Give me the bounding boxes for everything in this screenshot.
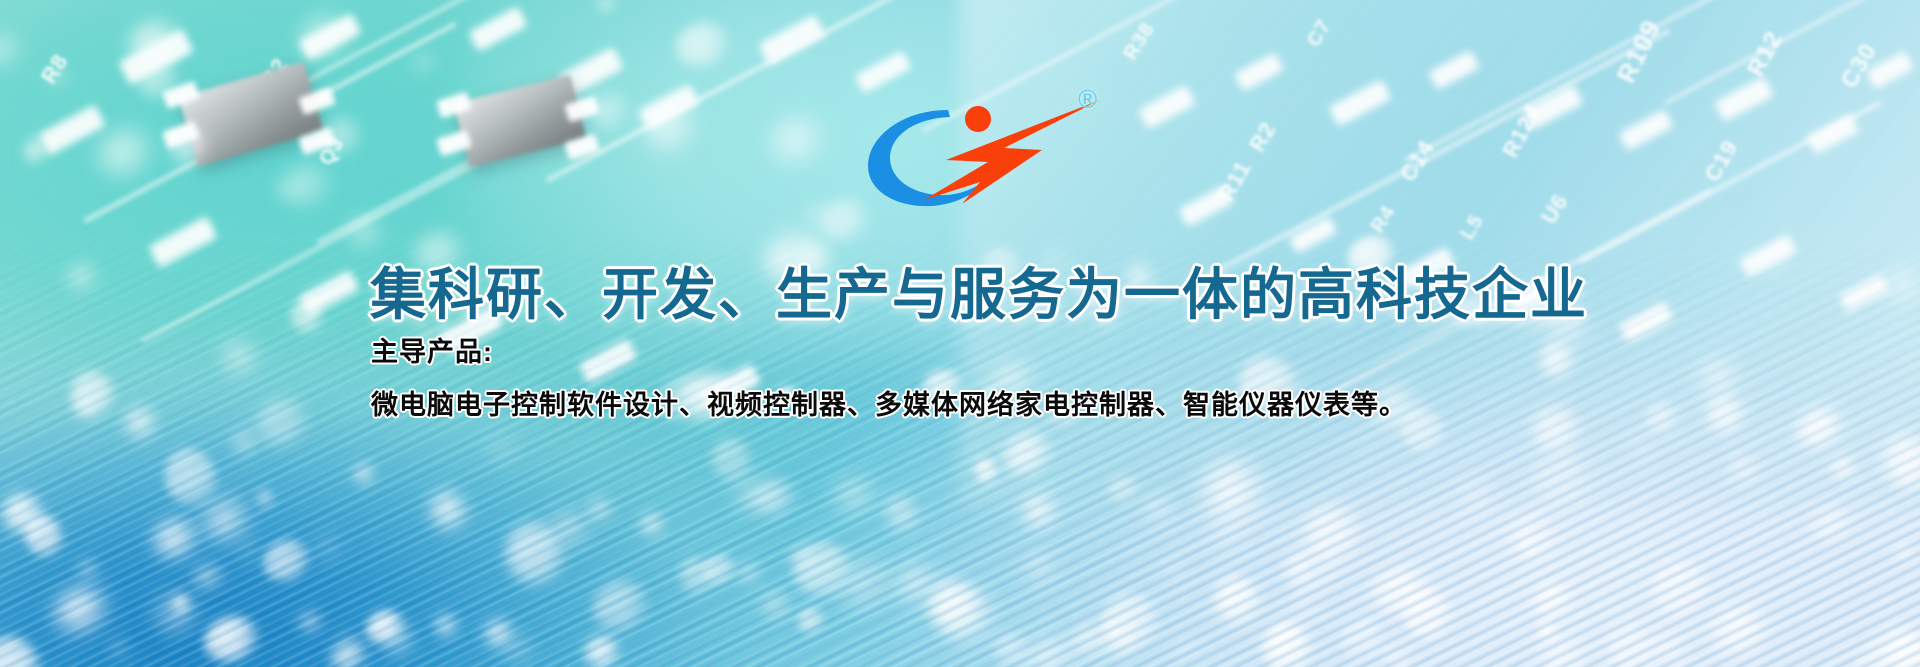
page-title: 集科研、开发、生产与服务为一体的高科技企业: [370, 263, 1630, 327]
main-products-list: 微电脑电子控制软件设计、视频控制器、多媒体网络家电控制器、智能仪器仪表等。: [371, 383, 1407, 422]
registered-trademark-icon: ®: [1078, 86, 1097, 112]
hero-banner: R109R12C30R2R11C14R124U6C19R4C7R38L5C2R8…: [0, 0, 1920, 667]
banner-content: ® 集科研、开发、生产与服务为一体的高科技企业 主导产品: 微电脑电子控制软件设…: [0, 0, 1920, 667]
main-products-label: 主导产品:: [371, 330, 493, 369]
